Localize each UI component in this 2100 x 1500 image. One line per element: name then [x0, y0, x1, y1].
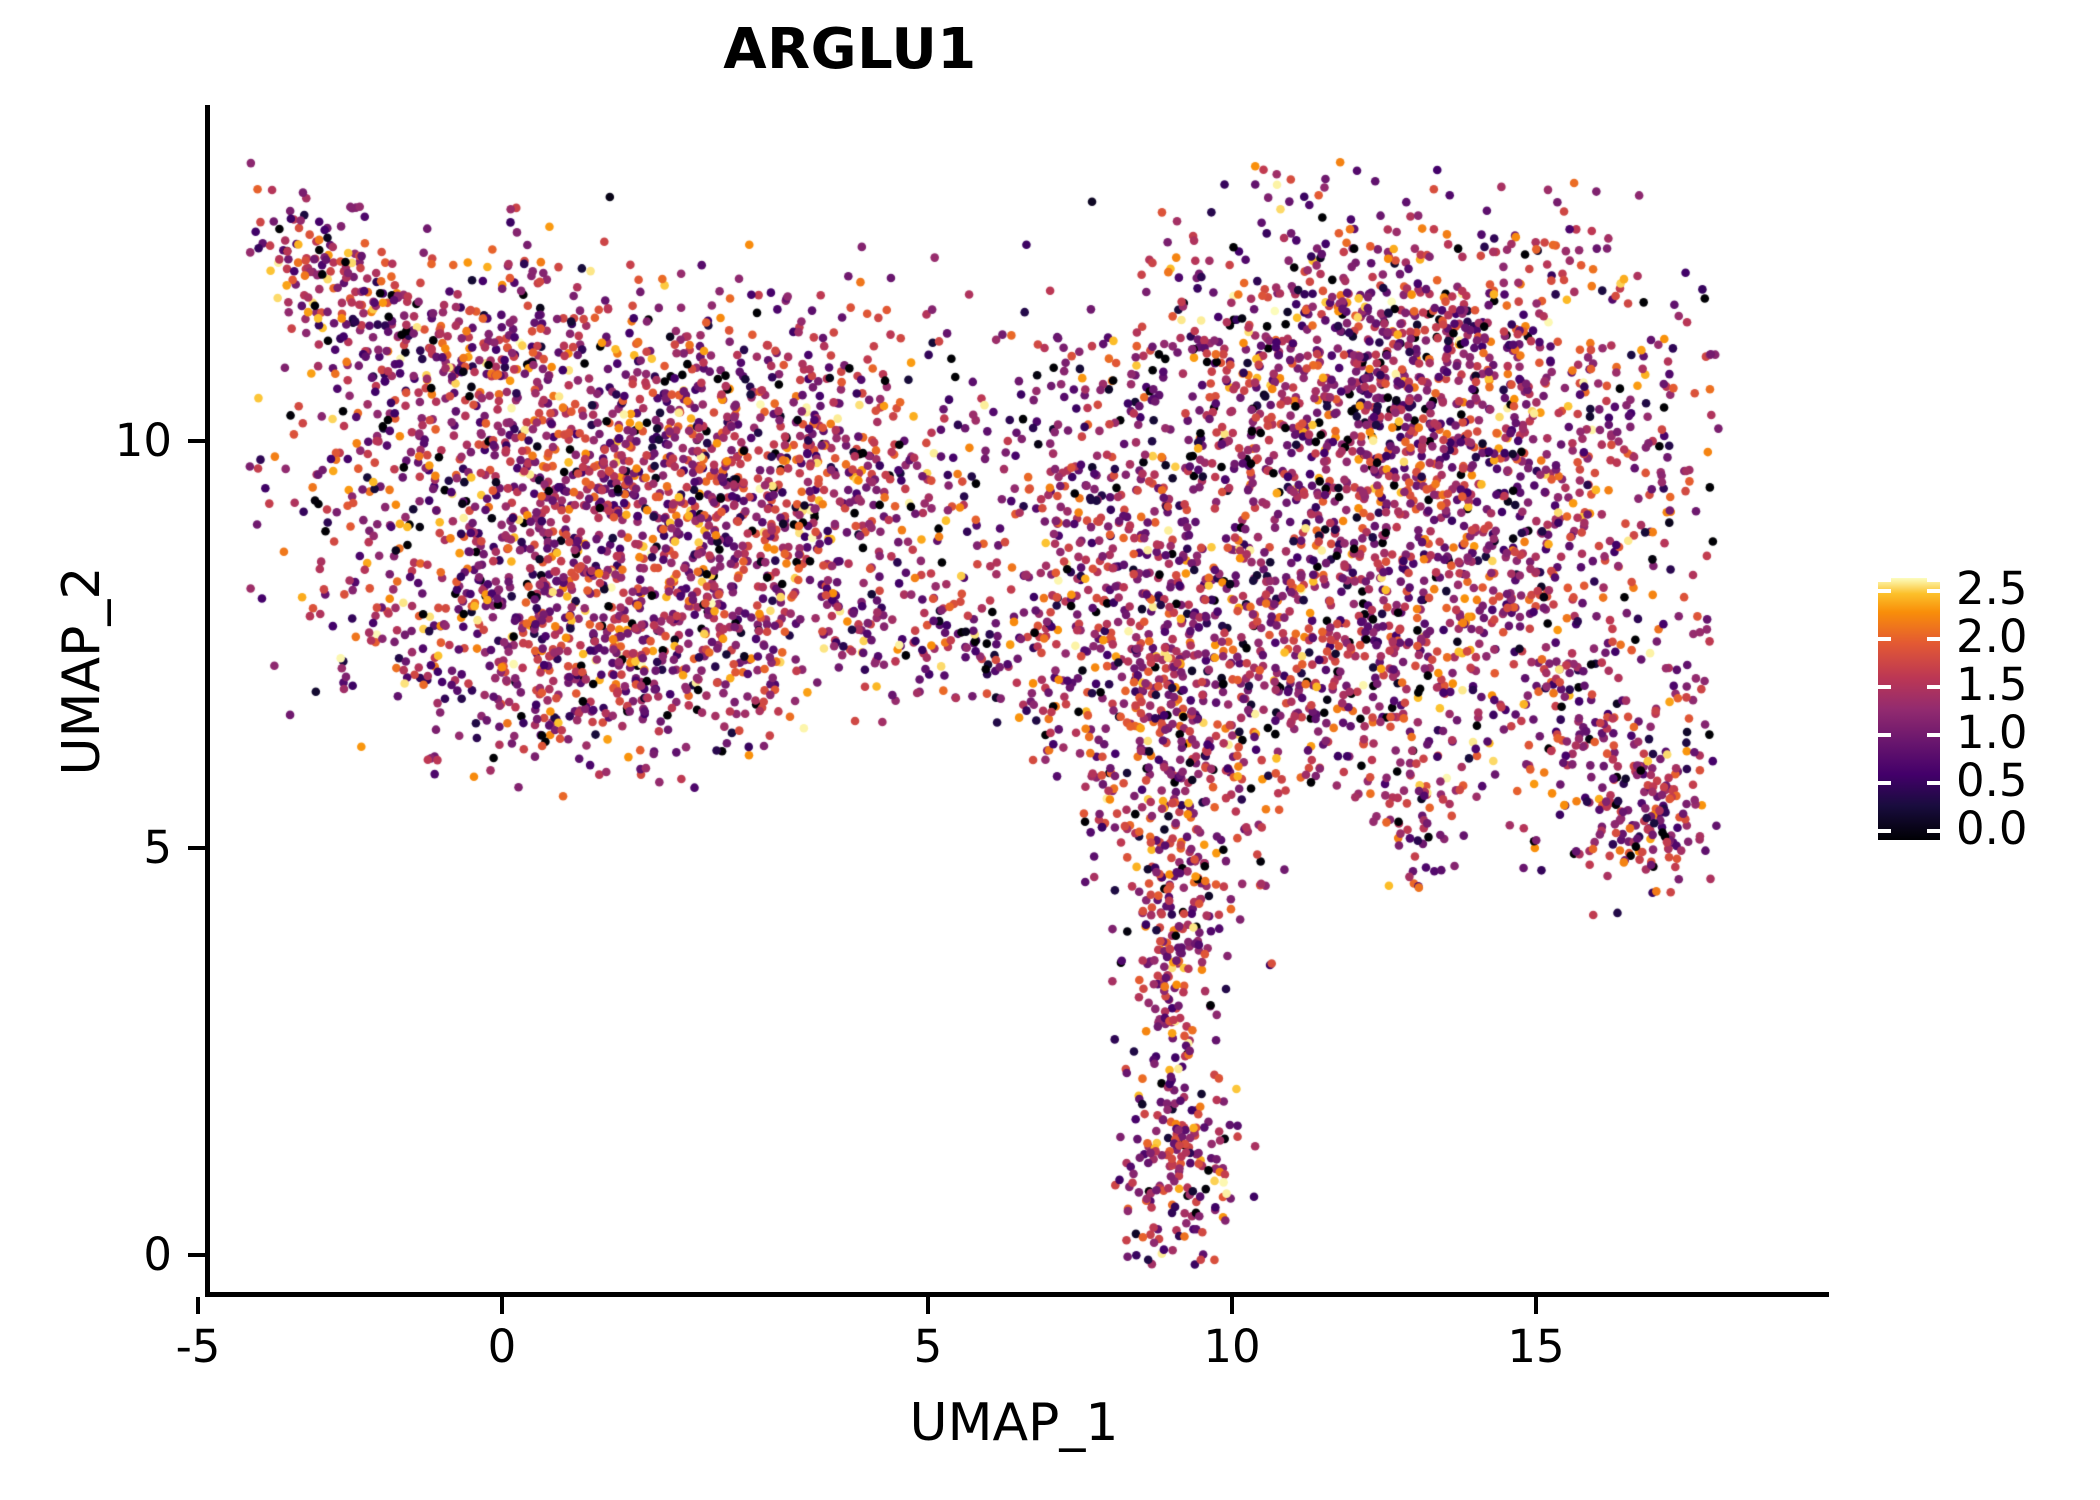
x-tick-mark [1534, 1297, 1538, 1314]
x-tick-mark [196, 1297, 200, 1314]
colorbar-label: 0.0 [1956, 802, 2028, 856]
y-tick-mark [188, 439, 205, 443]
colorbar-gradient [1878, 578, 1940, 840]
x-tick-label: 10 [1152, 1320, 1312, 1374]
x-axis-spine [205, 1292, 1829, 1297]
y-axis-title: UMAP_2 [51, 321, 113, 1021]
x-tick-mark [1230, 1297, 1234, 1314]
y-tick-mark [188, 846, 205, 850]
x-tick-label: -5 [118, 1320, 278, 1374]
umap-feature-plot-figure: ARGLU1 -5 0 5 10 15 0 5 10 UMAP_1 UMAP_2… [0, 0, 2100, 1500]
plot-panel [208, 105, 1820, 1295]
x-tick-label: 15 [1456, 1320, 1616, 1374]
x-tick-mark [500, 1297, 504, 1314]
x-tick-label: 5 [848, 1320, 1008, 1374]
colorbar-label: 1.0 [1956, 706, 2028, 760]
page-title: ARGLU1 [0, 18, 1700, 82]
colorbar-label: 1.5 [1956, 658, 2028, 712]
colorbar-label: 2.5 [1956, 562, 2028, 616]
y-tick-mark [188, 1253, 205, 1257]
colorbar-label: 0.5 [1956, 754, 2028, 808]
scatter-plot-canvas [208, 105, 1820, 1295]
x-tick-mark [926, 1297, 930, 1314]
y-axis-spine [205, 105, 210, 1295]
x-tick-label: 0 [422, 1320, 582, 1374]
x-axis-title: UMAP_1 [208, 1392, 1820, 1454]
colorbar-label: 2.0 [1956, 610, 2028, 664]
y-tick-label: 0 [0, 1228, 172, 1282]
colorbar-legend: 2.5 2.0 1.5 1.0 0.5 0.0 [1878, 578, 2078, 878]
